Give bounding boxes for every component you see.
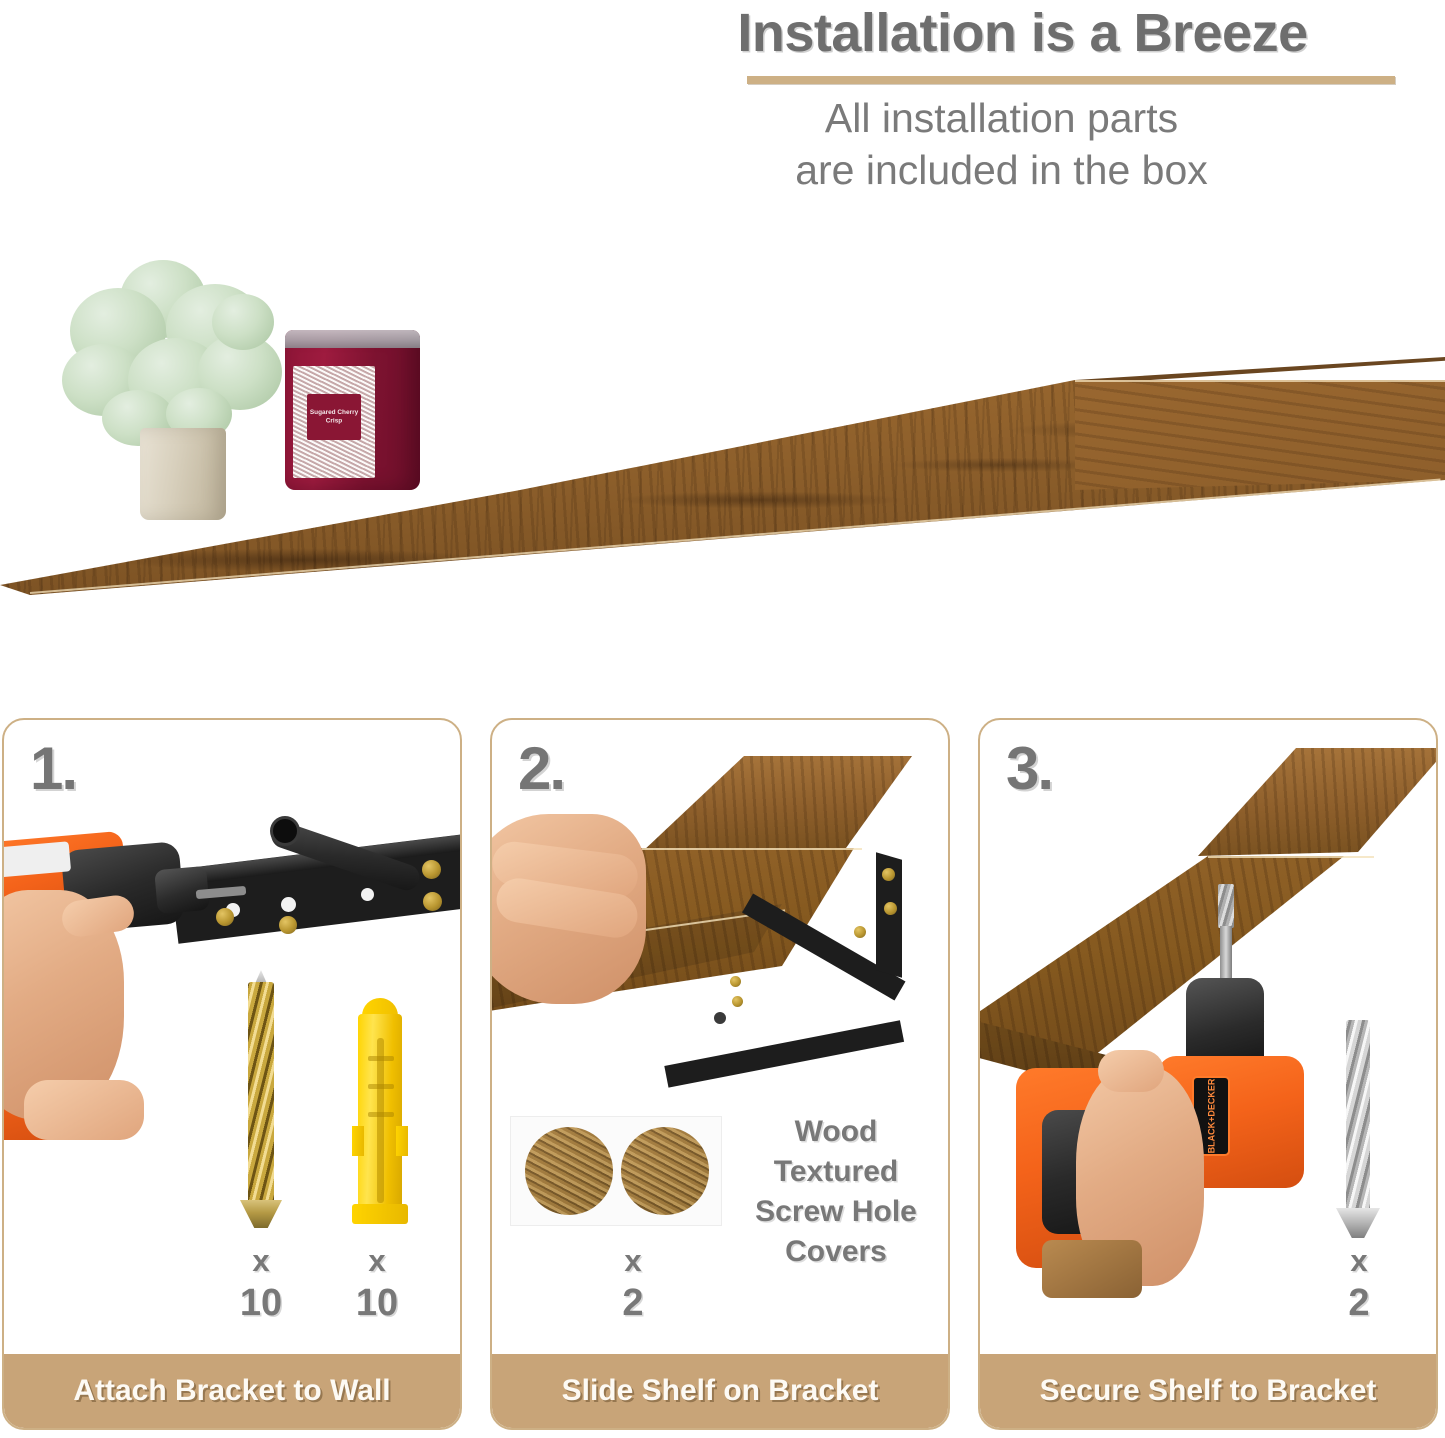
rod-open-end bbox=[270, 816, 300, 846]
bracket-screw bbox=[882, 868, 895, 881]
step-card-1: 1. bbox=[2, 718, 462, 1430]
yellow-anchor-icon bbox=[352, 998, 408, 1238]
bracket-screw bbox=[279, 916, 297, 934]
bracket-lower-arm bbox=[664, 1020, 904, 1087]
sleeve-cuff bbox=[1042, 1240, 1142, 1298]
step-1-number: 1. bbox=[30, 734, 76, 803]
step-2-caption: Slide Shelf on Bracket bbox=[492, 1354, 948, 1428]
bracket-screw bbox=[730, 976, 741, 987]
hero-product-image: Sugared Cherry Crisp bbox=[0, 225, 1445, 695]
shelf-top-surface bbox=[1108, 748, 1436, 858]
bracket-hole bbox=[361, 888, 374, 901]
shelf-edge-highlight bbox=[642, 848, 862, 850]
silver-screw-qty: x 2 bbox=[1316, 1240, 1402, 1324]
step-2-number: 2. bbox=[518, 734, 564, 803]
step-1-illustration: 1. bbox=[4, 720, 460, 1358]
bracket-hole bbox=[281, 897, 296, 912]
qty-number: 10 bbox=[218, 1282, 304, 1324]
driving-screw bbox=[1218, 884, 1234, 928]
screw-hole-covers-swatch bbox=[510, 1116, 722, 1226]
driving-screw bbox=[216, 908, 234, 926]
bracket-hole bbox=[714, 1012, 726, 1024]
header: Installation is a Breeze All installatio… bbox=[600, 0, 1445, 225]
cover-dot bbox=[621, 1127, 709, 1215]
qty-number: 10 bbox=[334, 1282, 420, 1324]
shelf-top-highlight bbox=[1075, 380, 1445, 382]
step-card-2: 2. x 2 Wood Textured Screw Hole Covers bbox=[490, 718, 950, 1430]
bracket-screw bbox=[732, 996, 743, 1007]
step-3-number: 3. bbox=[1006, 734, 1052, 803]
bracket-screw bbox=[422, 860, 441, 879]
header-subtitle: All installation parts are included in t… bbox=[600, 92, 1445, 196]
yellow-anchor-qty: x 10 bbox=[334, 1240, 420, 1324]
qty-x: x bbox=[1316, 1240, 1402, 1282]
cover-dot bbox=[525, 1127, 613, 1215]
thumb bbox=[24, 1080, 144, 1140]
covers-label: Wood Textured Screw Hole Covers bbox=[736, 1112, 936, 1272]
bracket-screw bbox=[423, 892, 442, 911]
covers-qty: x 2 bbox=[590, 1240, 676, 1324]
step-card-3: 3. BLACK+DECKER x 2 Secure Shelf to Brac bbox=[978, 718, 1438, 1430]
gold-screw-qty: x 10 bbox=[218, 1240, 304, 1324]
shelf-edge-highlight bbox=[1208, 856, 1374, 858]
silver-screw-icon bbox=[1336, 1020, 1380, 1250]
gold-screw-icon bbox=[240, 982, 282, 1237]
step-3-illustration: 3. BLACK+DECKER x 2 bbox=[980, 720, 1436, 1358]
qty-x: x bbox=[590, 1240, 676, 1282]
step-1-caption-text: Attach Bracket to Wall bbox=[73, 1374, 390, 1408]
step-2-caption-text: Slide Shelf on Bracket bbox=[562, 1374, 879, 1408]
header-divider bbox=[747, 76, 1395, 84]
floating-shelf bbox=[0, 295, 1445, 655]
subtitle-line-2: are included in the box bbox=[600, 144, 1403, 196]
step-2-illustration: 2. x 2 Wood Textured Screw Hole Covers bbox=[492, 720, 948, 1358]
step-3-caption: Secure Shelf to Bracket bbox=[980, 1354, 1436, 1428]
qty-number: 2 bbox=[590, 1282, 676, 1324]
subtitle-line-1: All installation parts bbox=[600, 92, 1403, 144]
qty-x: x bbox=[334, 1240, 420, 1282]
page-title: Installation is a Breeze bbox=[600, 0, 1445, 64]
bracket-screw bbox=[884, 902, 897, 915]
finger bbox=[1098, 1050, 1164, 1092]
qty-x: x bbox=[218, 1240, 304, 1282]
qty-number: 2 bbox=[1316, 1282, 1402, 1324]
step-3-caption-text: Secure Shelf to Bracket bbox=[1040, 1374, 1377, 1408]
brand-text: BLACK+DECKER bbox=[1206, 1079, 1216, 1154]
step-1-caption: Attach Bracket to Wall bbox=[4, 1354, 460, 1428]
bracket-screw bbox=[854, 926, 866, 938]
